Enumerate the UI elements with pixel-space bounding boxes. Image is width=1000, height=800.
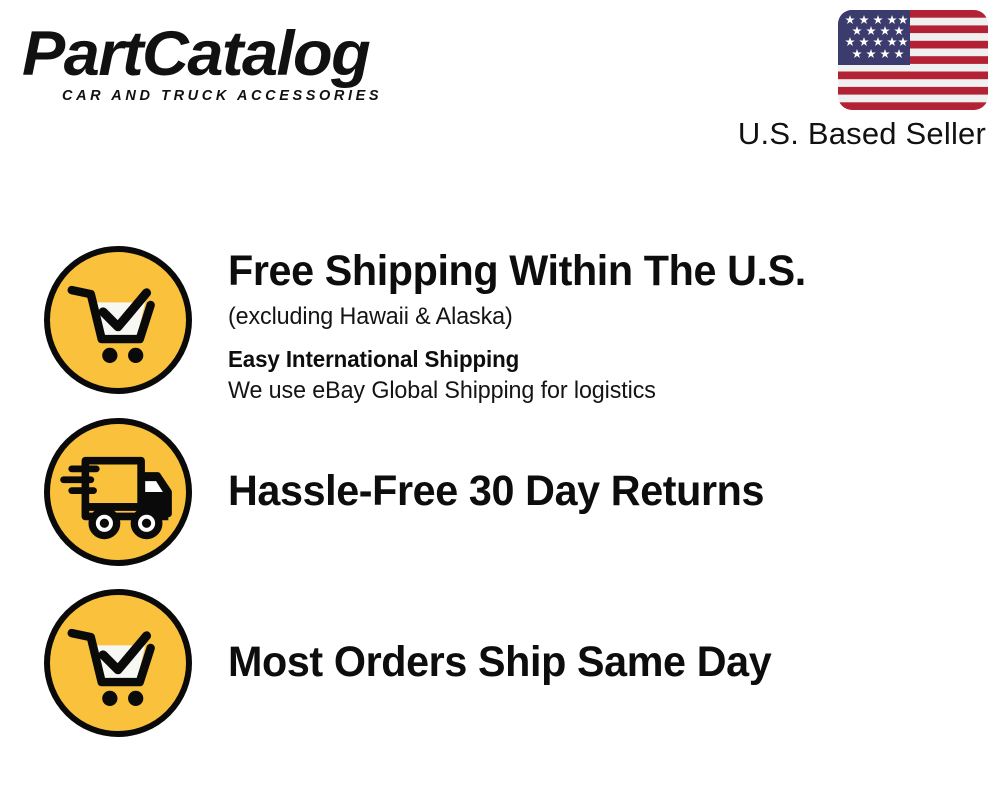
benefit-subtext-international: Easy International Shipping — [228, 344, 977, 374]
benefit-row: Most Orders Ship Same Day — [0, 589, 1000, 737]
shopping-cart-check-icon — [44, 589, 192, 737]
us-flag-icon — [838, 10, 988, 110]
benefit-row: Hassle-Free 30 Day Returns — [0, 418, 1000, 566]
benefit-heading: Hassle-Free 30 Day Returns — [228, 466, 969, 516]
delivery-truck-icon — [44, 418, 192, 566]
benefit-subtext-exclusion: (excluding Hawaii & Alaska) — [228, 302, 977, 332]
benefit-text: Hassle-Free 30 Day Returns — [228, 418, 1000, 516]
brand-logo: PartCatalog CAR AND TRUCK ACCESSORIES — [22, 22, 492, 114]
promo-banner: PartCatalog CAR AND TRUCK ACCESSORIES — [0, 0, 1000, 800]
benefit-subtext-logistics: We use eBay Global Shipping for logistic… — [228, 376, 977, 406]
benefit-heading: Free Shipping Within The U.S. — [228, 246, 969, 296]
shopping-cart-check-icon — [44, 246, 192, 394]
benefit-row: Free Shipping Within The U.S. (excluding… — [0, 246, 1000, 406]
brand-tagline: CAR AND TRUCK ACCESSORIES — [62, 88, 492, 104]
benefit-text: Free Shipping Within The U.S. (excluding… — [228, 246, 1000, 406]
benefit-heading: Most Orders Ship Same Day — [228, 637, 969, 687]
us-based-seller-label: U.S. Based Seller — [738, 116, 986, 152]
brand-wordmark: PartCatalog — [22, 22, 506, 86]
header: PartCatalog CAR AND TRUCK ACCESSORIES — [0, 0, 1000, 170]
benefit-text: Most Orders Ship Same Day — [228, 589, 1000, 687]
